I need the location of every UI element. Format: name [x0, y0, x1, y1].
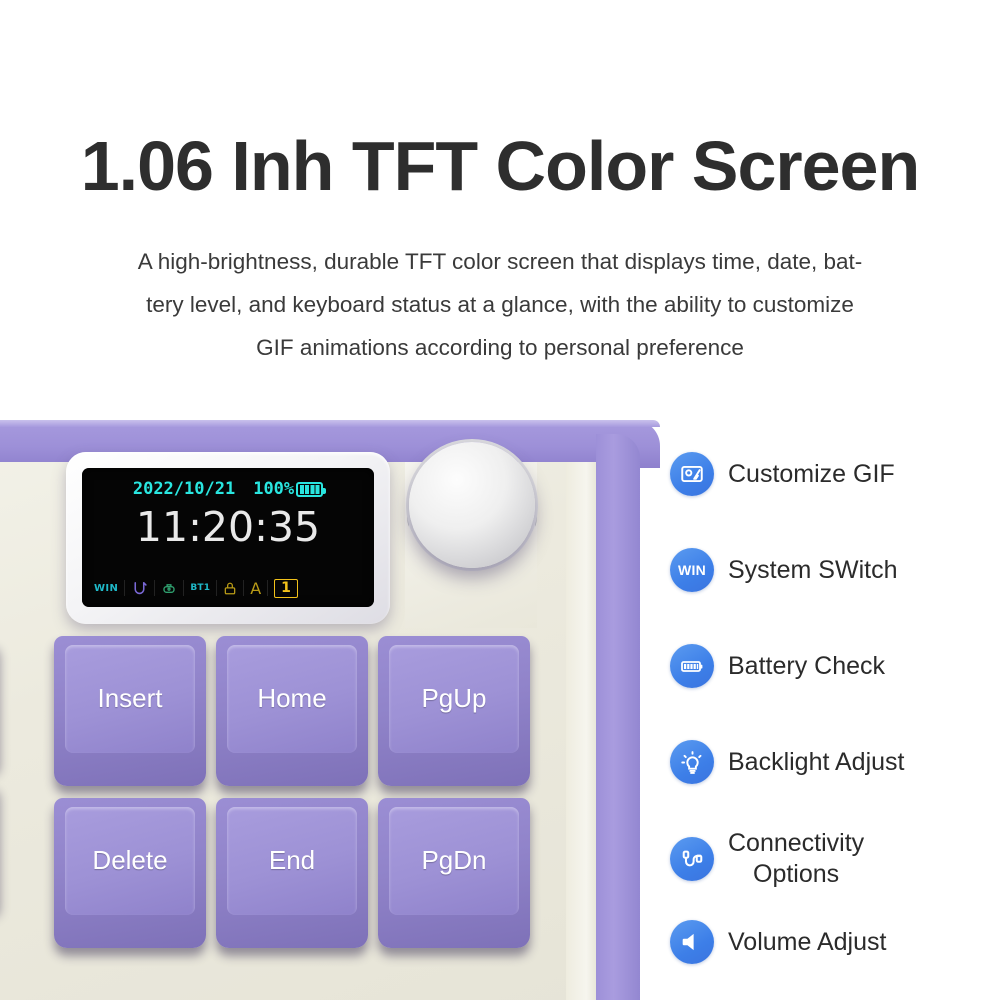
- header-section: 1.06 Inh TFT Color Screen A high-brightn…: [0, 0, 1000, 390]
- key-insert[interactable]: Insert: [54, 636, 206, 786]
- key-home[interactable]: Home: [216, 636, 368, 786]
- status-win-indicator: WIN: [94, 578, 118, 598]
- feature-label: Battery Check: [728, 651, 885, 682]
- feature-item-volume-adjust[interactable]: Volume Adjust: [670, 920, 886, 964]
- volume-knob[interactable]: [409, 442, 535, 568]
- usb-cable-icon: [670, 837, 714, 881]
- win-badge-icon: WIN: [670, 548, 714, 592]
- win-badge-text: WIN: [678, 562, 706, 578]
- feature-label: Backlight Adjust: [728, 747, 905, 778]
- feature-list: Customize GIF WIN System SWitch Battery …: [660, 430, 1000, 1000]
- keycap-cluster: Insert Home PgUp Delete End PgDn: [0, 626, 608, 1000]
- subtitle-line-3: GIF animations according to personal pre…: [60, 326, 940, 369]
- screen-date: 2022/10/21: [133, 479, 235, 499]
- feature-item-backlight-adjust[interactable]: Backlight Adjust: [670, 740, 905, 784]
- screen-battery-percent: 100%: [253, 479, 294, 499]
- status-divider: [267, 580, 268, 596]
- feature-label: System SWitch: [728, 555, 897, 586]
- lock-icon: [223, 578, 237, 598]
- key-label: Delete: [92, 845, 167, 902]
- key-label: PgDn: [421, 845, 486, 902]
- feature-label: Connectivity Options: [728, 828, 864, 890]
- feature-item-system-switch[interactable]: WIN System SWitch: [670, 548, 897, 592]
- screen-time: 11:20:35: [82, 503, 374, 551]
- tft-screen-bezel: 2022/10/21 100% 11:20:35 WIN: [66, 452, 390, 624]
- key-label: End: [269, 845, 315, 902]
- key-end[interactable]: End: [216, 798, 368, 948]
- battery-icon: [670, 644, 714, 688]
- page-title: 1.06 Inh TFT Color Screen: [0, 126, 1000, 206]
- key-pgdn[interactable]: PgDn: [378, 798, 530, 948]
- screen-status-bar: WIN BT1: [94, 577, 362, 599]
- page-subtitle: A high-brightness, durable TFT color scr…: [60, 240, 940, 369]
- backlight-bulb-icon: [670, 740, 714, 784]
- cable-icon: [131, 578, 148, 598]
- status-divider: [243, 580, 244, 596]
- feature-label: Volume Adjust: [728, 927, 886, 958]
- key-pgup[interactable]: PgUp: [378, 636, 530, 786]
- gif-image-icon: [670, 452, 714, 496]
- battery-full-icon: [296, 482, 323, 497]
- keyboard-case-highlight: [0, 420, 660, 427]
- key-delete[interactable]: Delete: [54, 798, 206, 948]
- key-label: PgUp: [421, 683, 486, 740]
- screen-battery-group: 100%: [253, 479, 323, 499]
- keyboard-product-photo: 2022/10/21 100% 11:20:35 WIN: [0, 390, 660, 1000]
- status-capslock-indicator: A: [250, 578, 261, 598]
- usb-icon: [161, 578, 177, 598]
- tft-screen[interactable]: 2022/10/21 100% 11:20:35 WIN: [82, 468, 374, 607]
- key-label: Insert: [97, 683, 162, 740]
- status-divider: [183, 580, 184, 596]
- feature-item-battery-check[interactable]: Battery Check: [670, 644, 885, 688]
- status-layer-indicator: 1: [274, 579, 298, 598]
- screen-top-row: 2022/10/21 100%: [82, 479, 374, 499]
- status-divider: [124, 580, 125, 596]
- key-label: Home: [257, 683, 326, 740]
- speaker-icon: [670, 920, 714, 964]
- feature-item-customize-gif[interactable]: Customize GIF: [670, 452, 895, 496]
- status-bluetooth-indicator: BT1: [190, 578, 210, 598]
- subtitle-line-2: tery level, and keyboard status at a gla…: [60, 283, 940, 326]
- subtitle-line-1: A high-brightness, durable TFT color scr…: [60, 240, 940, 283]
- status-divider: [154, 580, 155, 596]
- status-divider: [216, 580, 217, 596]
- feature-item-connectivity-options[interactable]: Connectivity Options: [670, 828, 864, 890]
- feature-label: Customize GIF: [728, 459, 895, 490]
